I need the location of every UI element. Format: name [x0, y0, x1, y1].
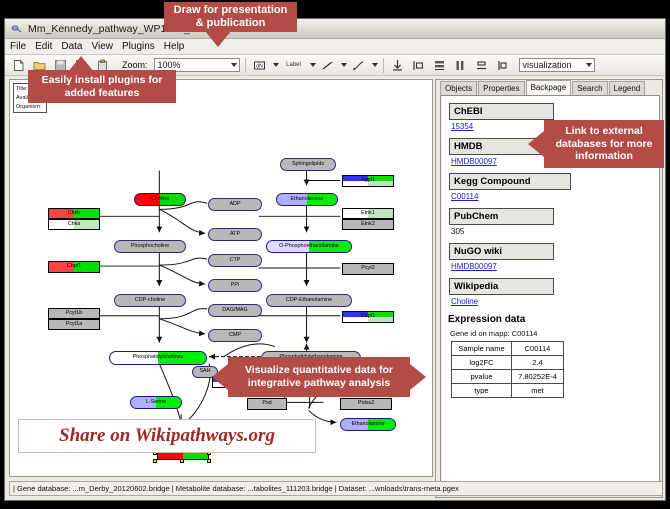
line-icon[interactable]	[319, 56, 337, 74]
node-label: O-Phosphoethanolamine	[279, 244, 339, 249]
node-atp[interactable]: ATP	[208, 228, 262, 241]
node-ctp[interactable]: CTP	[208, 254, 262, 267]
menu-item-plugins[interactable]: Plugins	[122, 41, 155, 52]
tab-search[interactable]: Search	[572, 81, 607, 95]
visualization-combo[interactable]: visualization	[519, 58, 595, 72]
node-label: ADP	[229, 202, 240, 207]
gene-label: Cept1	[361, 314, 375, 319]
gene-etnk2[interactable]: Etnk2	[342, 219, 394, 230]
node-l-serine-left[interactable]: L-Serine	[130, 396, 182, 409]
menu-item-file[interactable]: File	[10, 41, 26, 52]
status-text: | Gene database: ...m_Derby_20120602.bri…	[13, 484, 459, 493]
gene-cept1[interactable]: Cept1	[342, 311, 394, 323]
gene-label: Chka	[68, 222, 81, 227]
chevron-down-icon	[586, 63, 592, 67]
node-label: DAG/MAG	[222, 308, 247, 313]
toolbar-separator	[383, 58, 384, 73]
svg-text:dN: dN	[256, 63, 263, 69]
gene-pcyt2[interactable]: Pcyt2	[342, 263, 394, 275]
cell-key: type	[452, 384, 512, 398]
datanode-icon[interactable]: dN	[251, 56, 269, 74]
tab-objects[interactable]: Objects	[440, 81, 477, 95]
menu-item-view[interactable]: View	[91, 41, 113, 52]
gene-pcyt1a[interactable]: Pcyt1a	[48, 319, 100, 330]
annotation-links: Link to external databases for more info…	[544, 120, 664, 168]
section-header-nugo: NuGO wiki	[449, 243, 554, 260]
table-row: type met	[452, 384, 564, 398]
value-pubchem: 305	[451, 227, 659, 236]
node-label: CDP-choline	[135, 298, 165, 303]
section-header-chebi: ChEBI	[449, 103, 554, 120]
node-label: CDP-Ethanolamine	[286, 298, 332, 303]
annotation-arrow-left-icon	[212, 364, 228, 390]
section-header-pubchem: PubChem	[449, 208, 554, 225]
node-label: Ethanolamine	[352, 422, 385, 427]
toolbar-separator	[245, 58, 246, 73]
cell-value: C00114	[512, 342, 564, 356]
visualization-value: visualization	[523, 60, 572, 70]
cell-key: Sample name	[452, 342, 512, 356]
node-ethanolamine-2[interactable]: Ethanolamine	[340, 418, 396, 431]
node-label: Phosphocholine	[131, 244, 169, 249]
section-header-kegg: Kegg Compound	[449, 173, 571, 190]
align-left-icon[interactable]	[410, 56, 428, 74]
node-ppi[interactable]: PPi	[208, 279, 262, 292]
gene-chkb[interactable]: Chkb	[48, 208, 100, 219]
chevron-down-icon[interactable]	[310, 63, 316, 67]
node-ethanolamine[interactable]: Ethanolamine	[276, 193, 338, 206]
gene-label: Chpt1	[67, 264, 81, 269]
node-choline-top[interactable]: Choline	[134, 193, 186, 206]
node-cdp-choline[interactable]: CDP-choline	[114, 294, 186, 307]
node-label: Sphingolipids	[292, 162, 324, 167]
gene-ptdss2[interactable]: Ptdss2	[340, 398, 392, 410]
distribute-vertical-icon[interactable]	[431, 56, 449, 74]
gene-label: Psd	[262, 401, 271, 406]
annotation-arrow-up-icon	[68, 56, 94, 72]
node-label: CMP	[229, 333, 241, 338]
pathvisio-icon	[11, 23, 23, 35]
gene-label: Pcyt2	[361, 266, 374, 271]
tab-properties[interactable]: Properties	[478, 81, 524, 95]
new-icon[interactable]	[9, 56, 27, 74]
gene-etnk1[interactable]: Etnk1	[342, 208, 394, 219]
menu-item-help[interactable]: Help	[164, 41, 185, 52]
common-width-icon[interactable]	[494, 56, 512, 74]
node-dag-mag[interactable]: DAG/MAG	[208, 304, 262, 317]
annotation-draw: Draw for presentation & publication	[164, 2, 297, 32]
table-row: log2FC 2.4	[452, 356, 564, 370]
node-cdp-ethanolamine[interactable]: CDP-Ethanolamine	[266, 294, 352, 307]
link-wikipedia[interactable]: Choline	[451, 297, 659, 306]
table-row: pvalue 7.80252E-4	[452, 370, 564, 384]
tab-legend[interactable]: Legend	[609, 81, 646, 95]
annotation-visualize: Visualize quantitative data for integrat…	[228, 357, 410, 397]
gene-id-line: Gene id on mapp: C00114	[450, 329, 659, 338]
chevron-down-icon[interactable]	[372, 63, 378, 67]
node-o-phosphoethanolamine[interactable]: O-Phosphoethanolamine	[266, 240, 352, 253]
node-label: PPi	[231, 283, 239, 288]
cell-value: 7.80252E-4	[512, 370, 564, 384]
screenshot-root: Mm_Kennedy_pathway_WP1771_45176.gpml Fil…	[0, 0, 670, 509]
gene-sgpl1[interactable]: Sgpl1	[342, 175, 394, 187]
annotation-arrow-right-icon	[410, 364, 426, 390]
table-row: Sample name C00114	[452, 342, 564, 356]
gene-label: Etnk2	[361, 222, 375, 227]
interaction-icon[interactable]	[350, 56, 368, 74]
selection-handle[interactable]	[153, 459, 157, 463]
side-tabs: Objects Properties Backpage Search Legen…	[436, 80, 662, 95]
annotation-arrow-down-icon	[205, 31, 231, 47]
section-header-wikipedia: Wikipedia	[449, 278, 554, 295]
gene-chka[interactable]: Chka	[48, 219, 100, 230]
cell-value: 2.4	[512, 356, 564, 370]
node-label: Phosphatidylcholines	[133, 355, 184, 360]
gene-label: Chkb	[68, 211, 81, 216]
node-cmp[interactable]: CMP	[208, 329, 262, 342]
node-label: Ethanolamine	[291, 197, 324, 202]
node-phosphocholine[interactable]: Phosphocholine	[114, 240, 186, 253]
cell-key: pvalue	[452, 370, 512, 384]
link-nugo[interactable]: HMDB00097	[451, 262, 659, 271]
title-bar: Mm_Kennedy_pathway_WP1771_45176.gpml	[5, 19, 665, 39]
menu-item-data[interactable]: Data	[61, 41, 82, 52]
chevron-down-icon[interactable]	[273, 63, 279, 67]
annotation-plugins: Easily install plugins for added feature…	[28, 70, 176, 103]
status-bar: | Gene database: ...m_Derby_20120602.bri…	[9, 481, 663, 496]
annotation-share: Share on Wikipathways.org	[18, 419, 316, 453]
cell-value: met	[512, 384, 564, 398]
node-label: SAH	[199, 369, 210, 374]
expression-data-title: Expression data	[448, 314, 659, 325]
zoom-value: 100%	[158, 60, 181, 70]
menu-bar: File Edit Data View Plugins Help	[5, 39, 665, 55]
stack-center-icon[interactable]	[473, 56, 491, 74]
gene-label: Etnk1	[361, 211, 375, 216]
node-phosphatidylcholines[interactable]: Phosphatidylcholines	[109, 351, 207, 365]
selection-handle[interactable]	[207, 459, 211, 463]
gene-chpt1[interactable]: Chpt1	[48, 261, 100, 273]
distribute-horizontal-icon[interactable]	[452, 56, 470, 74]
link-kegg[interactable]: C00114	[451, 192, 659, 201]
gene-label: Pcyt1a	[66, 322, 82, 327]
gene-psd[interactable]: Psd	[247, 398, 287, 410]
node-adp[interactable]: ADP	[208, 198, 262, 211]
node-sphingolipids[interactable]: Sphingolipids	[280, 158, 336, 171]
expression-table: Sample name C00114 log2FC 2.4 pvalue 7.8…	[451, 341, 564, 398]
annotation-arrow-left-icon	[528, 131, 544, 157]
pathway-edges	[10, 80, 432, 476]
selection-handle[interactable]	[180, 459, 184, 463]
gene-pcyt1b[interactable]: Pcyt1b	[48, 308, 100, 319]
chevron-down-icon	[231, 63, 237, 67]
tab-backpage[interactable]: Backpage	[526, 80, 572, 95]
infobox-organism: Organism:	[16, 103, 44, 112]
label-icon[interactable]: Label	[282, 56, 306, 74]
gene-label: Pcyt1b	[66, 311, 82, 316]
pathway-canvas[interactable]: Title: Availability: Organism:	[9, 79, 433, 477]
gene-label: Ptdss2	[358, 401, 374, 406]
zoom-label: Zoom:	[122, 60, 148, 70]
node-label: Choline	[151, 197, 169, 202]
node-label: ATP	[230, 232, 240, 237]
chevron-down-icon[interactable]	[341, 63, 347, 67]
menu-item-edit[interactable]: Edit	[35, 41, 52, 52]
node-label: CTP	[230, 258, 241, 263]
gene-label: Sgpl1	[361, 178, 375, 183]
cell-key: log2FC	[452, 356, 512, 370]
align-bottom-icon[interactable]	[389, 56, 407, 74]
node-label: L-Serine	[146, 400, 166, 405]
